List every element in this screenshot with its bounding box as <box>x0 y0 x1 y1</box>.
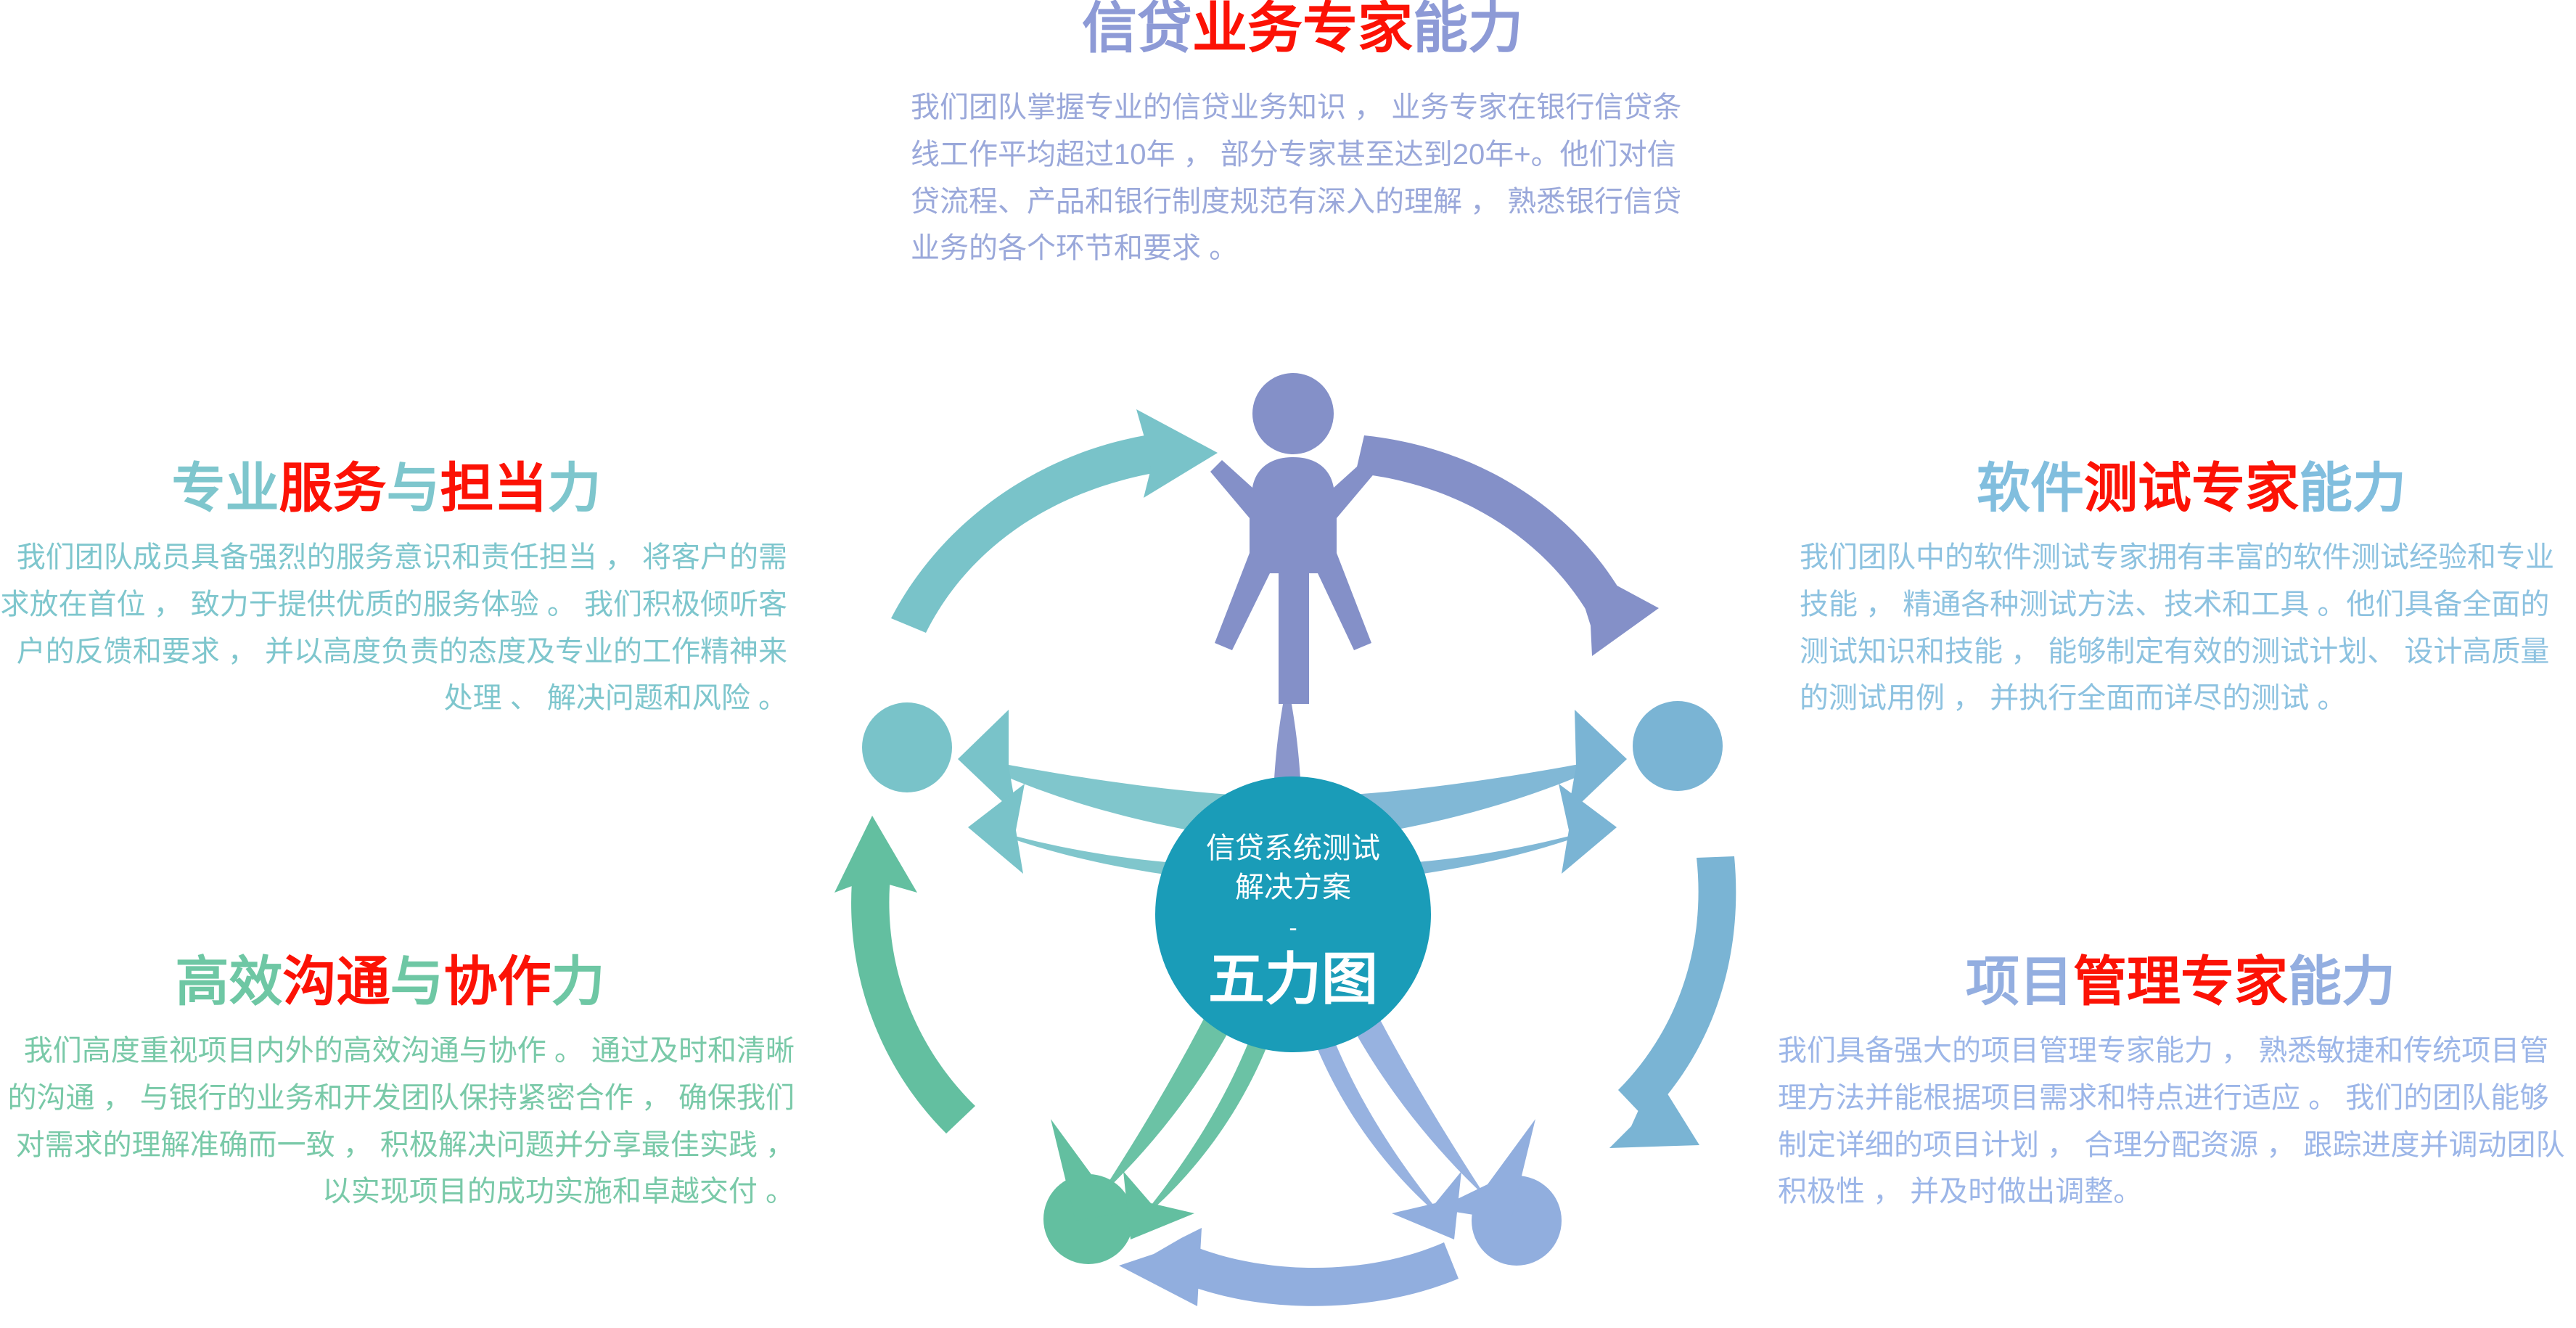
panel-left-bottom-body: 我们高度重视项目内外的高效沟通与协作 。 通过及时和清晰的沟通 ， 与银行的业务… <box>0 1028 795 1216</box>
title-segment-0: 专业 <box>172 458 279 518</box>
arc-left-top-icon <box>891 409 1218 633</box>
title-segment-4: 力 <box>548 458 602 518</box>
panel-right-top-body: 我们团队中的软件测试专家拥有丰富的软件测试经验和专业技能 ， 精通各种测试方法、… <box>1800 534 2576 722</box>
title-segment-2: 与 <box>390 951 444 1012</box>
title-segment-1: 服务 <box>279 458 387 518</box>
title-segment-1: 测试专家 <box>2084 458 2299 518</box>
title-segment-2: 能力 <box>2299 458 2406 518</box>
title-segment-4: 力 <box>551 951 605 1012</box>
title-segment-1: 沟通 <box>283 951 390 1012</box>
panel-right-bottom-title: 项目管理专家能力 <box>1778 955 2576 1009</box>
panel-communication-collaboration: 高效沟通与协作力 我们高度重视项目内外的高效沟通与协作 。 通过及时和清晰的沟通… <box>0 955 795 1216</box>
hub-line-1: 信贷系统测试 <box>1206 832 1380 864</box>
panel-left-bottom-title: 高效沟通与协作力 <box>0 955 795 1009</box>
five-forces-diagram: 信贷系统测试 解决方案 - 五力图 <box>791 363 1792 1328</box>
title-segment-3: 协作 <box>444 951 551 1012</box>
node-left-icon <box>862 702 952 792</box>
arc-right-bottom-icon <box>1609 856 1736 1148</box>
title-segment-1: 业务专家 <box>1192 0 1413 60</box>
panel-top-title: 信贷业务专家能力 <box>911 1 1694 57</box>
node-right-icon <box>1633 701 1723 791</box>
title-segment-0: 信贷 <box>1082 0 1192 60</box>
title-segment-2: 能力 <box>2288 951 2395 1012</box>
arc-bottom-icon <box>1119 1228 1459 1306</box>
hub-line-3: 五力图 <box>1208 947 1378 1011</box>
panel-right-bottom-body: 我们具备强大的项目管理专家能力 ， 熟悉敏捷和传统项目管理方法并能根据项目需求和… <box>1778 1028 2576 1216</box>
arc-bottom-left-icon <box>834 816 975 1134</box>
title-segment-3: 担当 <box>440 458 548 518</box>
title-segment-0: 项目 <box>1966 951 2073 1012</box>
infographic-canvas: 信贷业务专家能力 我们团队掌握专业的信贷业务知识 ， 业务专家在银行信贷条线工作… <box>0 0 2576 1324</box>
panel-credit-business-expert: 信贷业务专家能力 我们团队掌握专业的信贷业务知识 ， 业务专家在银行信贷条线工作… <box>911 1 1694 272</box>
panel-top-body: 我们团队掌握专业的信贷业务知识 ， 业务专家在银行信贷条线工作平均超过10年 ，… <box>911 84 1694 272</box>
title-segment-2: 与 <box>387 458 440 518</box>
panel-software-test-expert: 软件测试专家能力 我们团队中的软件测试专家拥有丰富的软件测试经验和专业技能 ， … <box>1800 462 2576 722</box>
panel-left-top-title: 专业服务与担当力 <box>0 462 787 515</box>
panel-left-top-body: 我们团队成员具备强烈的服务意识和责任担当 ， 将客户的需求放在首位 ， 致力于提… <box>0 534 787 722</box>
title-segment-1: 管理专家 <box>2073 951 2288 1012</box>
title-segment-2: 能力 <box>1413 0 1523 60</box>
person-node-top-icon <box>1210 373 1376 704</box>
title-segment-0: 软件 <box>1977 458 2084 518</box>
panel-right-top-title: 软件测试专家能力 <box>1800 462 2576 515</box>
panel-project-management-expert: 项目管理专家能力 我们具备强大的项目管理专家能力 ， 熟悉敏捷和传统项目管理方法… <box>1778 955 2576 1216</box>
title-segment-0: 高效 <box>176 951 283 1012</box>
hub-line-2: 解决方案 <box>1235 872 1351 903</box>
panel-professional-service: 专业服务与担当力 我们团队成员具备强烈的服务意识和责任担当 ， 将客户的需求放在… <box>0 462 787 722</box>
arc-top-right-icon <box>1355 435 1659 656</box>
hub-dash: - <box>1289 914 1297 942</box>
